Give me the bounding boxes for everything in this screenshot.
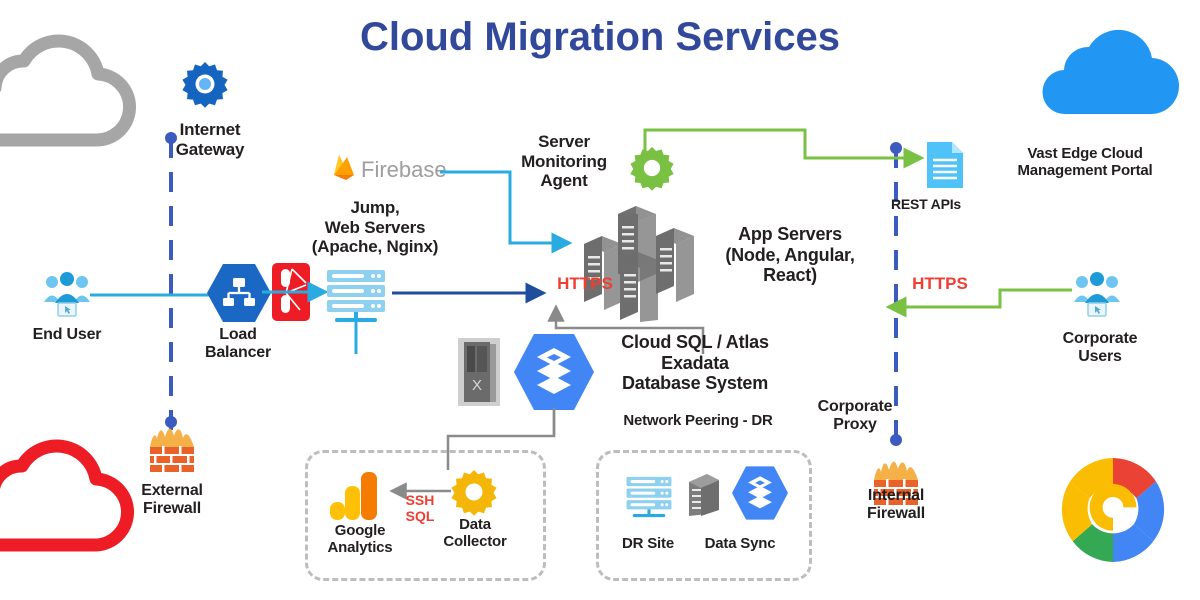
server-rack-icon: [325, 268, 387, 324]
agent-to-portal-line: [645, 125, 935, 185]
network-peering-label: Network Peering - DR: [598, 412, 798, 429]
web-servers-label: Jump, Web Servers (Apache, Nginx): [290, 198, 460, 257]
google-analytics-label: Google Analytics: [315, 522, 405, 557]
google-cloud-logo-icon: [1048, 450, 1178, 570]
rest-apis-label: REST APIs: [868, 196, 984, 212]
https-left-label: HTTPS: [540, 274, 630, 294]
db-to-dr-connector: [548, 408, 608, 448]
web-to-db-line: [348, 318, 364, 358]
data-sync-label: Data Sync: [690, 535, 790, 552]
page-title: Cloud Migration Services: [0, 14, 1200, 60]
corporate-users-label: Corporate Users: [1040, 330, 1160, 367]
end-user-label: End User: [17, 326, 117, 344]
data-sync-hexagon-icon: [731, 465, 789, 521]
corporate-proxy-label: Corporate Proxy: [795, 398, 915, 435]
gear-icon: [181, 60, 229, 108]
database-hexagon-icon: [513, 332, 595, 412]
svg-text:X: X: [472, 377, 482, 394]
web-to-app-arrow: [392, 284, 552, 302]
firebase-flame-icon: [330, 152, 358, 182]
firebase-label: Firebase: [361, 157, 447, 183]
https-right-label: HTTPS: [895, 274, 985, 294]
exadata-cabinet-icon: X: [458, 338, 500, 406]
external-firewall-label: External Firewall: [112, 482, 232, 519]
diagram-canvas: Cloud Migration Services: [0, 0, 1200, 600]
dr-site-label: DR Site: [608, 535, 688, 552]
gray-cloud-outline-icon: [0, 40, 160, 155]
load-balancer-label: Load Balancer: [188, 326, 288, 363]
internal-firewall-label: Internal Firewall: [836, 487, 956, 524]
data-sync-server-icon: [687, 470, 721, 518]
ssh-sql-label: SSH SQL: [392, 492, 448, 524]
google-analytics-icon: [328, 470, 380, 522]
dr-server-rack-icon: [625, 473, 673, 521]
lb-to-web-arrow: [262, 282, 332, 302]
server-monitoring-agent-label: Server Monitoring Agent: [500, 132, 628, 191]
users-icon: [42, 272, 92, 318]
vast-edge-portal-label: Vast Edge Cloud Management Portal: [975, 145, 1195, 180]
firewall-brick-icon: [148, 425, 196, 477]
database-label: Cloud SQL / Atlas Exadata Database Syste…: [600, 332, 790, 394]
internet-gateway-label: Internet Gateway: [140, 120, 280, 159]
app-servers-label: App Servers (Node, Angular, React): [710, 224, 870, 286]
blue-cloud-icon: [1030, 32, 1190, 122]
end-user-to-lb-line: [90, 288, 220, 302]
document-icon: [925, 140, 965, 190]
